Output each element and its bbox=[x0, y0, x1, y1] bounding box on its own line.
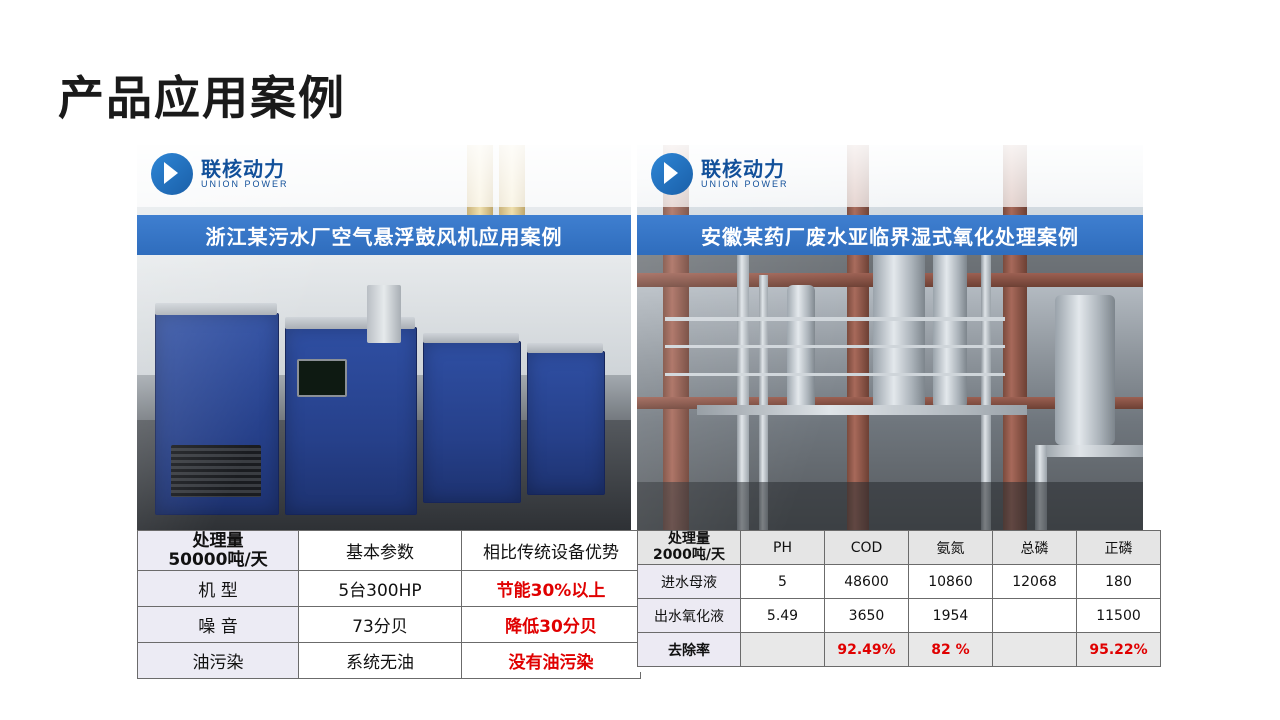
row-param: 73分贝 bbox=[299, 607, 462, 643]
page-title: 产品应用案例 bbox=[58, 62, 346, 128]
table-row: 进水母液 5 48600 10860 12068 180 bbox=[638, 565, 1161, 599]
table-header-ph: PH bbox=[741, 531, 825, 565]
row-value-orthophosphate: 180 bbox=[1077, 565, 1161, 599]
brand-name-cn: 联核动力 bbox=[701, 159, 789, 180]
row-value-ammonia: 10860 bbox=[909, 565, 993, 599]
case-card-right: 联核动力 UNION POWER 安徽某药厂废水亚临界湿式氧化处理案例 处理量 … bbox=[637, 145, 1143, 672]
table-row: 噪 音 73分贝 降低30分贝 bbox=[138, 607, 641, 643]
row-advantage: 降低30分贝 bbox=[462, 607, 641, 643]
table-header-volume: 处理量 2000吨/天 bbox=[638, 531, 741, 565]
case-caption-left: 浙江某污水厂空气悬浮鼓风机应用案例 bbox=[137, 215, 631, 255]
case-card-left: 联核动力 UNION POWER 浙江某污水厂空气悬浮鼓风机应用案例 处理量 5… bbox=[137, 145, 631, 672]
table-header-volume-line1: 处理量 bbox=[139, 532, 297, 551]
brand-text-right: 联核动力 UNION POWER bbox=[701, 159, 789, 189]
table-header-ammonia: 氨氮 bbox=[909, 531, 993, 565]
table-header-volume: 处理量 50000吨/天 bbox=[138, 531, 299, 571]
brand-name-cn: 联核动力 bbox=[201, 159, 289, 180]
row-value-total-phosphorus: 12068 bbox=[993, 565, 1077, 599]
row-label: 出水氧化液 bbox=[638, 599, 741, 633]
table-row: 去除率 92.49% 82 % 95.22% bbox=[638, 633, 1161, 667]
row-param: 系统无油 bbox=[299, 643, 462, 679]
case-photo-right: 联核动力 UNION POWER 安徽某药厂废水亚临界湿式氧化处理案例 bbox=[637, 145, 1143, 530]
brand-logo-right: 联核动力 UNION POWER bbox=[651, 153, 789, 195]
table-row: 机 型 5台300HP 节能30%以上 bbox=[138, 571, 641, 607]
row-label: 去除率 bbox=[638, 633, 741, 667]
table-row: 出水氧化液 5.49 3650 1954 11500 bbox=[638, 599, 1161, 633]
table-header-volume-line1: 处理量 bbox=[639, 532, 739, 547]
row-label: 进水母液 bbox=[638, 565, 741, 599]
union-power-logo-icon bbox=[651, 153, 693, 195]
row-value-ammonia: 82 % bbox=[909, 633, 993, 667]
row-value-ph bbox=[741, 633, 825, 667]
row-value-ammonia: 1954 bbox=[909, 599, 993, 633]
row-value-ph: 5 bbox=[741, 565, 825, 599]
table-header-cod: COD bbox=[825, 531, 909, 565]
table-header-total-phosphorus: 总磷 bbox=[993, 531, 1077, 565]
table-header-orthophosphate: 正磷 bbox=[1077, 531, 1161, 565]
row-value-cod: 48600 bbox=[825, 565, 909, 599]
row-label: 噪 音 bbox=[138, 607, 299, 643]
row-value-cod: 92.49% bbox=[825, 633, 909, 667]
row-value-total-phosphorus bbox=[993, 599, 1077, 633]
case-photo-left: 联核动力 UNION POWER 浙江某污水厂空气悬浮鼓风机应用案例 bbox=[137, 145, 631, 530]
case-caption-right: 安徽某药厂废水亚临界湿式氧化处理案例 bbox=[637, 215, 1143, 255]
row-value-total-phosphorus bbox=[993, 633, 1077, 667]
row-param: 5台300HP bbox=[299, 571, 462, 607]
row-advantage: 节能30%以上 bbox=[462, 571, 641, 607]
row-advantage: 没有油污染 bbox=[462, 643, 641, 679]
union-power-logo-icon bbox=[151, 153, 193, 195]
row-value-orthophosphate: 11500 bbox=[1077, 599, 1161, 633]
logo-band-right: 联核动力 UNION POWER bbox=[637, 145, 1143, 207]
row-value-ph: 5.49 bbox=[741, 599, 825, 633]
table-header-row: 处理量 50000吨/天 基本参数 相比传统设备优势 bbox=[138, 531, 641, 571]
cases-container: 联核动力 UNION POWER 浙江某污水厂空气悬浮鼓风机应用案例 处理量 5… bbox=[137, 145, 1143, 672]
row-label: 油污染 bbox=[138, 643, 299, 679]
table-row: 油污染 系统无油 没有油污染 bbox=[138, 643, 641, 679]
row-value-cod: 3650 bbox=[825, 599, 909, 633]
logo-band-left: 联核动力 UNION POWER bbox=[137, 145, 631, 207]
row-label: 机 型 bbox=[138, 571, 299, 607]
case-table-left: 处理量 50000吨/天 基本参数 相比传统设备优势 机 型 5台300HP 节… bbox=[137, 530, 641, 679]
brand-text-left: 联核动力 UNION POWER bbox=[201, 159, 289, 189]
table-header-row: 处理量 2000吨/天 PH COD 氨氮 总磷 正磷 bbox=[638, 531, 1161, 565]
table-header-advantage: 相比传统设备优势 bbox=[462, 531, 641, 571]
table-header-params: 基本参数 bbox=[299, 531, 462, 571]
brand-name-en: UNION POWER bbox=[201, 180, 289, 189]
brand-name-en: UNION POWER bbox=[701, 180, 789, 189]
brand-logo-left: 联核动力 UNION POWER bbox=[151, 153, 289, 195]
table-header-volume-line2: 2000吨/天 bbox=[639, 548, 739, 563]
table-header-volume-line2: 50000吨/天 bbox=[139, 551, 297, 570]
row-value-orthophosphate: 95.22% bbox=[1077, 633, 1161, 667]
case-table-right: 处理量 2000吨/天 PH COD 氨氮 总磷 正磷 进水母液 5 48600… bbox=[637, 530, 1161, 667]
